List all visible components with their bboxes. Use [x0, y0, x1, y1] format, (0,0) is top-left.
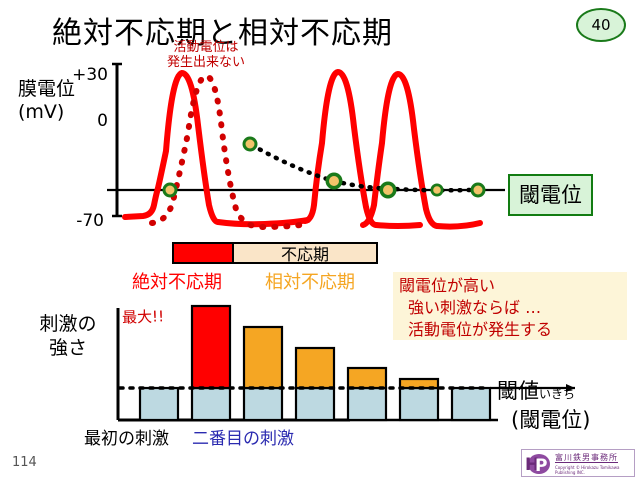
threshold-caption-ruby: いきち	[539, 387, 575, 401]
threshold-marker	[243, 137, 258, 152]
refractory-period-bar: 不応期	[172, 242, 378, 264]
bar-supra-threshold-max	[192, 306, 230, 388]
threshold-marker	[380, 182, 397, 199]
bar-supra-threshold	[348, 368, 386, 388]
y-tick-0: 0	[66, 111, 108, 131]
threshold-caption-main: 閾値	[497, 379, 539, 403]
bar-group	[296, 348, 334, 420]
note-line-1: 閾電位が高い	[399, 275, 627, 297]
publisher-logo: H P 富川鉄男事務所 Copyright © Hirokazu Tomikaw…	[521, 449, 635, 477]
bar-supra-threshold	[244, 327, 282, 388]
logo-copyright: Copyright © Hirokazu Tomikawa Publishing…	[555, 465, 634, 475]
bar-group	[400, 379, 438, 420]
y-tick-30: +30	[66, 65, 108, 85]
bar-supra-threshold	[296, 348, 334, 388]
relative-refractory-segment: 不応期	[234, 244, 376, 262]
bar-sub-threshold	[140, 388, 178, 420]
bar-sub-threshold	[296, 388, 334, 420]
threshold-potential-label-box: 閾電位	[508, 174, 593, 216]
svg-text:P: P	[535, 456, 547, 475]
first-stimulus-label: 最初の刺激	[84, 424, 169, 449]
slide-canvas: 絶対不応期と相対不応期 40	[0, 0, 640, 480]
threshold-marker	[471, 183, 486, 198]
slide-number-badge: 40	[576, 8, 626, 42]
bar-group	[348, 368, 386, 420]
absolute-refractory-segment	[174, 244, 234, 262]
bar-sub-threshold	[192, 388, 230, 420]
threshold-caption-line2: (閾電位)	[497, 407, 590, 433]
action-potential-trace	[125, 72, 480, 227]
absolute-refractory-label: 絶対不応期	[132, 268, 222, 294]
bar-sub-threshold	[400, 388, 438, 420]
bar-sub-threshold	[348, 388, 386, 420]
bar-group	[452, 388, 490, 420]
bar-sub-threshold	[244, 388, 282, 420]
impossible-ap-annotation-line1: 活動電位は	[167, 40, 245, 55]
relative-refractory-label: 相対不応期	[265, 268, 355, 294]
bottom-y-axis-title-line2: 強さ	[20, 336, 116, 360]
impossible-ap-annotation: 活動電位は 発生出来ない	[167, 40, 245, 70]
logo-text-block: 富川鉄男事務所 Copyright © Hirokazu Tomikawa Pu…	[552, 451, 634, 475]
bar-group	[192, 306, 230, 420]
threshold-marker	[326, 173, 343, 190]
bar-group	[244, 327, 282, 420]
page-number: 114	[12, 455, 37, 470]
max-annotation: 最大!!	[122, 305, 165, 327]
logo-company-name: 富川鉄男事務所	[555, 454, 618, 463]
bar-group	[140, 388, 178, 420]
threshold-marker	[431, 184, 444, 197]
y-tick-minus70: -70	[62, 211, 104, 231]
bottom-y-axis-title-line1: 刺激の	[20, 312, 116, 336]
threshold-marker	[163, 183, 178, 198]
second-stimulus-label: 二番目の刺激	[192, 424, 294, 449]
bar-sub-threshold	[452, 388, 490, 420]
threshold-value-caption: 閾値いきち (閾電位)	[497, 378, 590, 433]
impossible-ap-annotation-line2: 発生出来ない	[167, 55, 245, 70]
bottom-y-axis-title: 刺激の 強さ	[20, 312, 116, 360]
threshold-caption-line1: 閾値いきち	[497, 378, 590, 407]
hp-logo-icon: H P	[522, 451, 552, 475]
